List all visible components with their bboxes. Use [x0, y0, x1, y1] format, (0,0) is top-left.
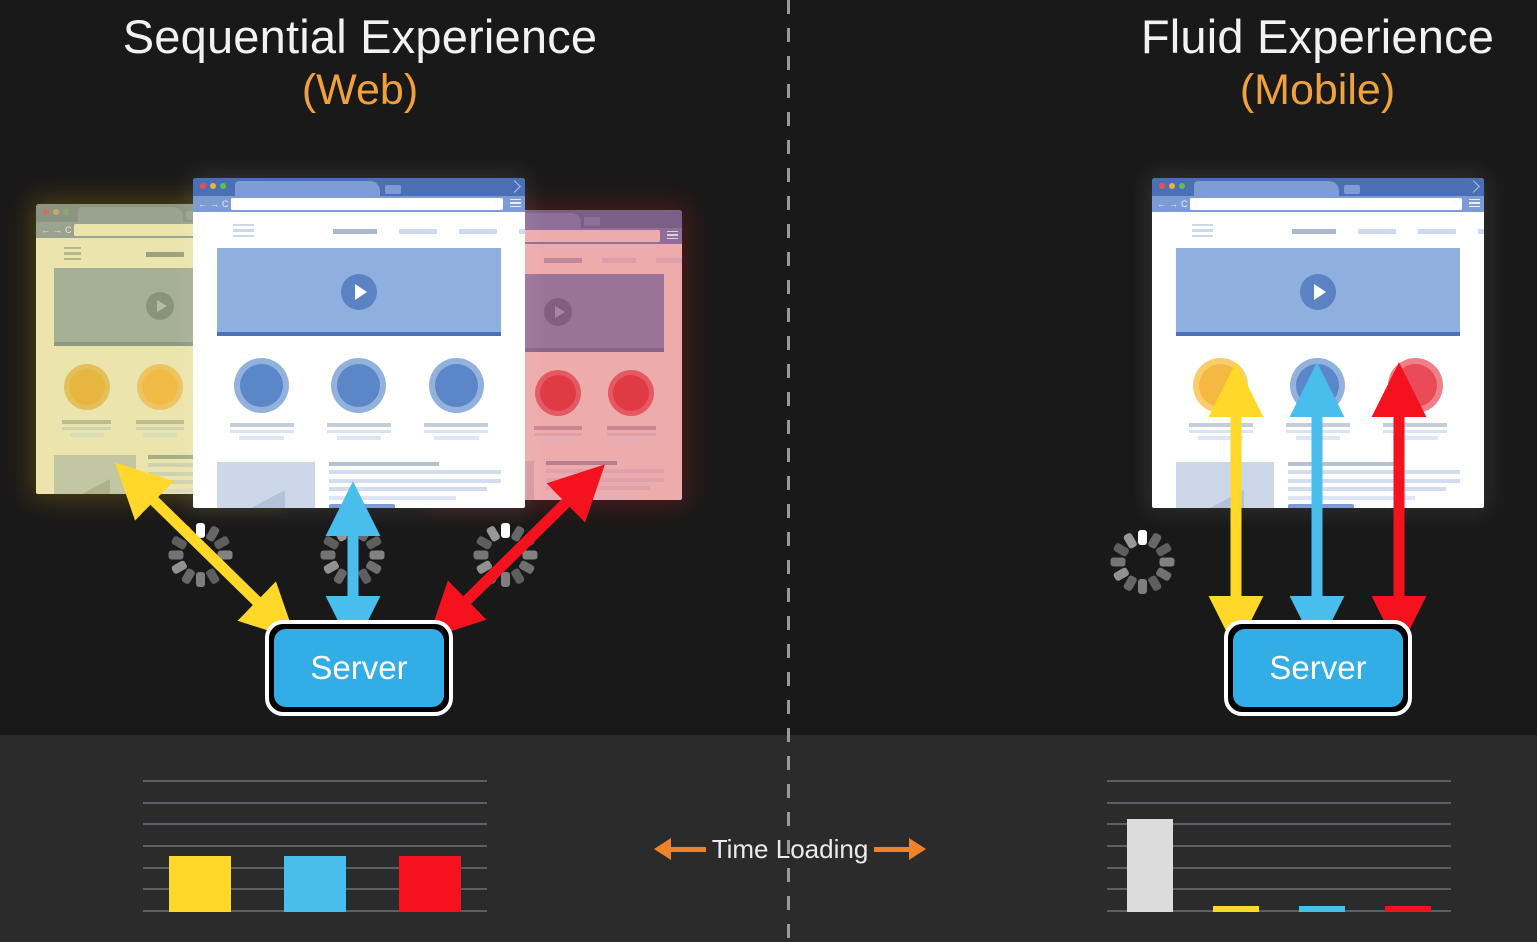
spinner-segment [348, 523, 357, 538]
spinner-segment [196, 523, 205, 538]
feature-card [123, 364, 196, 437]
time-loading-axis: Time Loading [640, 824, 940, 874]
card-text-lines [1286, 423, 1350, 440]
maximize-dot-icon [63, 209, 69, 215]
image-placeholder-icon [1176, 462, 1274, 509]
article-block [1176, 462, 1460, 509]
spinner-segment [168, 551, 183, 560]
hero-banner [217, 248, 501, 332]
maximize-dot-icon [1179, 183, 1185, 189]
page-content [1152, 212, 1484, 508]
server-box-mobile[interactable]: Server [1224, 620, 1412, 716]
play-button-icon[interactable] [146, 292, 174, 320]
chart-bar [399, 856, 461, 912]
spinner-segment [320, 551, 335, 560]
spinner-segment [217, 551, 232, 560]
minimize-dot-icon [53, 209, 59, 215]
avatar [1290, 358, 1345, 413]
spinner-segment [348, 572, 357, 587]
image-placeholder-icon [54, 455, 136, 495]
nav-arrows-icon: ←→C [41, 225, 75, 235]
card-text-lines [424, 423, 488, 440]
feature-card-blue [1269, 358, 1366, 440]
window-control-dots [200, 183, 226, 189]
chrome-navrow: ←→C ☆ [1152, 196, 1484, 212]
page-navbar [193, 212, 525, 248]
server-fill: Server [274, 629, 444, 707]
heading-left: Sequential Experience (Web) [60, 12, 660, 113]
chart-bar [1385, 906, 1431, 912]
chart-web-load-times [143, 780, 487, 912]
feature-card-red [1367, 358, 1464, 440]
spinner-segment [501, 523, 510, 538]
page-menu-icon[interactable] [64, 247, 81, 263]
spinner-segment [501, 572, 510, 587]
server-label: Server [310, 649, 407, 687]
url-input[interactable] [1190, 198, 1462, 210]
hamburger-menu-icon[interactable] [667, 231, 678, 241]
page-menu-icon[interactable] [233, 224, 254, 240]
spinner-segment [369, 551, 384, 560]
browser-chrome: ←→C ☆ [193, 178, 525, 212]
hamburger-menu-icon[interactable] [510, 199, 521, 209]
feature-card [595, 370, 668, 443]
avatar [535, 370, 581, 416]
chart-bar [1127, 819, 1173, 912]
feature-card [521, 370, 594, 443]
minimize-dot-icon [210, 183, 216, 189]
avatar [137, 364, 183, 410]
feature-cards [213, 358, 505, 440]
card-text-lines [136, 420, 184, 437]
time-loading-label: Time Loading [712, 834, 869, 865]
maximize-dot-icon [220, 183, 226, 189]
card-text-lines [1189, 423, 1253, 440]
feature-card-yellow [1172, 358, 1269, 440]
cta-button[interactable] [329, 504, 395, 508]
page-navbar [1152, 212, 1484, 248]
close-dot-icon [43, 209, 49, 215]
spinner-segment [1110, 558, 1125, 567]
avatar [1193, 358, 1248, 413]
loading-spinner-icon [320, 523, 384, 587]
card-text-lines [327, 423, 391, 440]
browser-window-main-mobile[interactable]: ←→C ☆ [1152, 178, 1484, 508]
hero-banner [1176, 248, 1460, 332]
spinner-segment [522, 551, 537, 560]
bookmark-star-icon[interactable]: ☆ [1452, 201, 1458, 207]
center-divider-dashed [787, 0, 790, 942]
bookmark-star-icon[interactable]: ☆ [493, 201, 499, 207]
window-control-dots [43, 209, 69, 215]
spinner-segment [1138, 579, 1147, 594]
heading-left-sub: (Web) [60, 67, 660, 113]
heading-right-sub: (Mobile) [1040, 67, 1537, 113]
article-text-lines [546, 461, 664, 501]
card-text-lines [607, 426, 655, 443]
heading-left-main: Sequential Experience [60, 12, 660, 63]
article-text-lines [1288, 462, 1460, 509]
page-nav-links[interactable] [1292, 229, 1484, 234]
avatar [234, 358, 289, 413]
arrow-right-icon [874, 838, 926, 860]
arrow-left-icon [654, 838, 706, 860]
image-placeholder-icon [217, 462, 315, 509]
feature-card [310, 358, 407, 440]
new-tab-icon[interactable] [385, 185, 401, 194]
card-text-lines [534, 426, 582, 443]
spinner-segment [1159, 558, 1174, 567]
browser-window-main-web[interactable]: ←→C ☆ [193, 178, 525, 508]
diagram-stage: Sequential Experience (Web) Fluid Experi… [0, 0, 1537, 942]
play-button-icon[interactable] [544, 298, 572, 326]
nav-arrows-icon: ←→C [1157, 199, 1191, 209]
heading-right-main: Fluid Experience [1040, 12, 1537, 63]
close-dot-icon [1159, 183, 1165, 189]
cta-button[interactable] [1288, 504, 1354, 508]
browser-tab[interactable] [78, 207, 183, 222]
new-tab-icon[interactable] [584, 217, 600, 226]
window-control-dots [1159, 183, 1185, 189]
page-nav-links[interactable] [544, 258, 682, 263]
avatar [429, 358, 484, 413]
loading-spinner-icon [168, 523, 232, 587]
play-button-icon[interactable] [341, 274, 377, 310]
feature-cards [1172, 358, 1464, 440]
play-button-icon[interactable] [1300, 274, 1336, 310]
loading-spinner-icon [473, 523, 537, 587]
feature-card [50, 364, 123, 437]
heading-right: Fluid Experience (Mobile) [1040, 12, 1537, 113]
card-text-lines [1383, 423, 1447, 440]
article-text-lines [329, 462, 501, 509]
article-block [217, 462, 501, 509]
chart-bar [169, 856, 231, 912]
url-input[interactable] [231, 198, 503, 210]
card-text-lines [230, 423, 294, 440]
browser-tab[interactable] [235, 181, 380, 196]
server-label: Server [1269, 649, 1366, 687]
card-text-lines [62, 420, 110, 437]
hamburger-menu-icon[interactable] [1469, 199, 1480, 209]
page-nav-links[interactable] [333, 229, 525, 234]
browser-tab[interactable] [1194, 181, 1339, 196]
new-tab-icon[interactable] [1344, 185, 1360, 194]
chart-bar [284, 856, 346, 912]
nav-arrows-icon: ←→C [198, 199, 232, 209]
feature-card [213, 358, 310, 440]
spinner-segment [473, 551, 488, 560]
chart-bar [1299, 906, 1345, 912]
server-box-web[interactable]: Server [265, 620, 453, 716]
loading-spinner-icon [1110, 530, 1174, 594]
server-fill: Server [1233, 629, 1403, 707]
browser-chrome: ←→C ☆ [1152, 178, 1484, 212]
avatar [608, 370, 654, 416]
chart-bars [143, 780, 487, 912]
page-menu-icon[interactable] [1192, 224, 1213, 240]
chart-bars [1107, 780, 1451, 912]
avatar [1388, 358, 1443, 413]
chart-mobile-load-times [1107, 780, 1451, 912]
chrome-navrow: ←→C ☆ [193, 196, 525, 212]
spinner-segment [196, 572, 205, 587]
avatar [64, 364, 110, 410]
minimize-dot-icon [1169, 183, 1175, 189]
avatar [331, 358, 386, 413]
chart-bar [1213, 906, 1259, 912]
close-dot-icon [200, 183, 206, 189]
spinner-segment [1138, 530, 1147, 545]
feature-card [408, 358, 505, 440]
page-content [193, 212, 525, 508]
